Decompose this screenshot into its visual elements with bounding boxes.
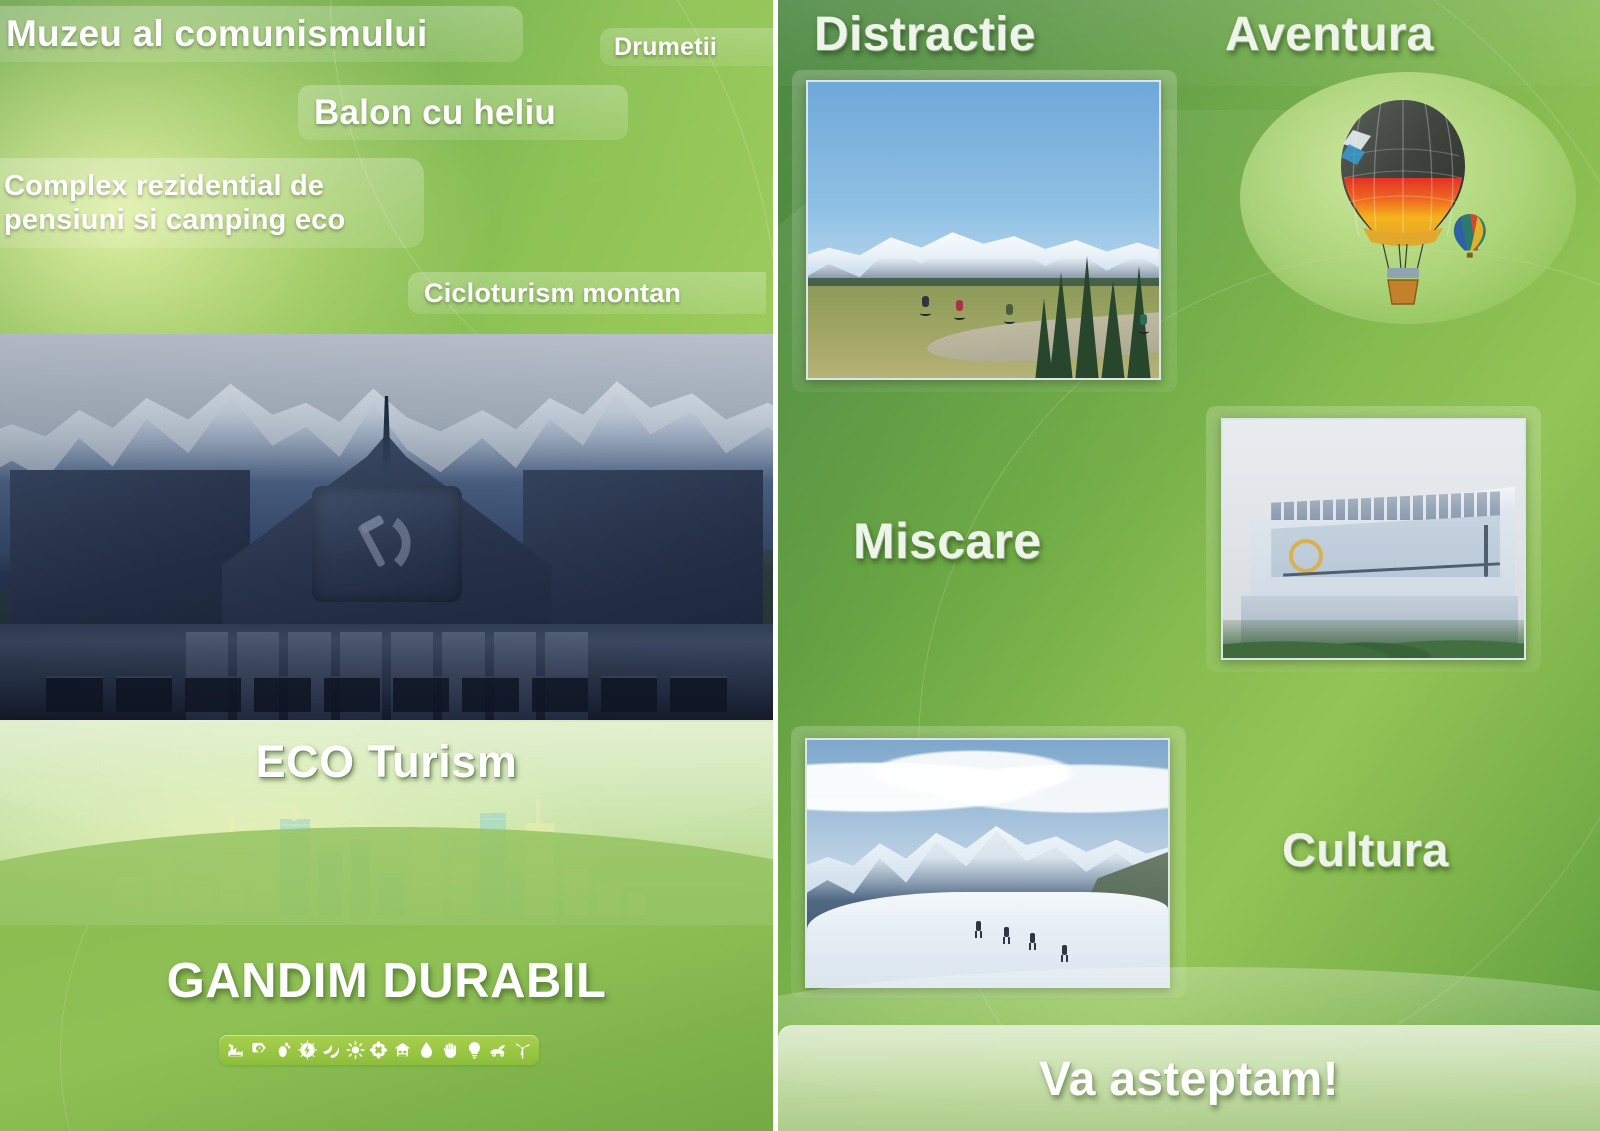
energy-power-icon [298, 1039, 317, 1061]
photo-cultural-building [1221, 418, 1526, 660]
caption-label: Cicloturism montan [424, 278, 681, 309]
eco-icon-strip[interactable] [219, 1035, 539, 1065]
recycling-tag-icon [250, 1039, 269, 1061]
caption-label: Balon cu heliu [314, 93, 556, 133]
band-highlight-curve [778, 967, 1600, 1107]
eco-car-icon [489, 1039, 508, 1061]
caption-balon-cu-heliu[interactable]: Balon cu heliu [298, 85, 628, 140]
house-icon [393, 1039, 412, 1061]
hiker [1003, 927, 1010, 944]
photo-hot-air-balloon [1303, 82, 1503, 342]
building-emblem [1289, 539, 1323, 573]
clouds [807, 744, 1168, 816]
caption-label-line1: Complex rezidential de [4, 169, 324, 203]
wind-turbine-icon [513, 1039, 532, 1061]
eco-turism-band: ECO Turism [0, 720, 773, 927]
water-drop-icon [417, 1039, 436, 1061]
cyclist [1004, 304, 1015, 324]
conifer-trees [1035, 232, 1153, 380]
caption-muzeu-al-comunismului[interactable]: Muzeu al comunismului [0, 6, 523, 62]
photo-blue-tint [0, 334, 773, 720]
slogan-gandim-durabil: GANDIM DURABIL [0, 953, 773, 1009]
sun-icon [346, 1039, 365, 1061]
hiker [1029, 933, 1036, 950]
section-header-distractie: Distractie [814, 7, 1036, 62]
right-page: Distractie Aventura Miscare Cultura Va a… [778, 0, 1600, 1131]
facade-hook-detail [1484, 525, 1488, 577]
footprint-icon [274, 1039, 293, 1061]
cyclist [920, 296, 931, 316]
brochure-spread: Muzeu al comunismului Drumetii Balon cu … [0, 0, 1600, 1131]
factory-icon [226, 1039, 245, 1061]
caption-label-line2: pensiuni si camping eco [4, 203, 345, 237]
leaves-icon [322, 1039, 341, 1061]
welcome-band: Va asteptam! [778, 1025, 1600, 1131]
section-header-aventura: Aventura [1225, 7, 1434, 62]
hiker [1061, 945, 1068, 962]
hiker [975, 921, 982, 938]
cyclist [1138, 314, 1149, 334]
caption-complex-rezidential[interactable]: Complex rezidential de pensiuni si campi… [0, 158, 424, 248]
flower-icon [369, 1039, 388, 1061]
photo-communism-museum [0, 334, 773, 720]
left-page: Muzeu al comunismului Drumetii Balon cu … [0, 0, 773, 1131]
cyclist [954, 300, 965, 320]
photo-mountain-bikers [806, 80, 1161, 380]
caption-cicloturism-montan[interactable]: Cicloturism montan [408, 272, 766, 314]
left-footer: GANDIM DURABIL [0, 925, 773, 1131]
foreground-shrubs [1223, 620, 1524, 658]
band-bottom-curve [0, 827, 773, 927]
caption-label: Muzeu al comunismului [6, 13, 428, 55]
section-header-cultura: Cultura [1282, 822, 1449, 877]
caption-drumetii[interactable]: Drumetii [600, 28, 773, 66]
lightbulb-icon [465, 1039, 484, 1061]
section-header-miscare: Miscare [853, 512, 1041, 570]
hand-icon [441, 1039, 460, 1061]
page-divider [773, 0, 778, 1131]
photo-glacier-hikers [805, 738, 1170, 988]
caption-label: Drumetii [614, 33, 717, 62]
eco-turism-title: ECO Turism [0, 736, 773, 788]
